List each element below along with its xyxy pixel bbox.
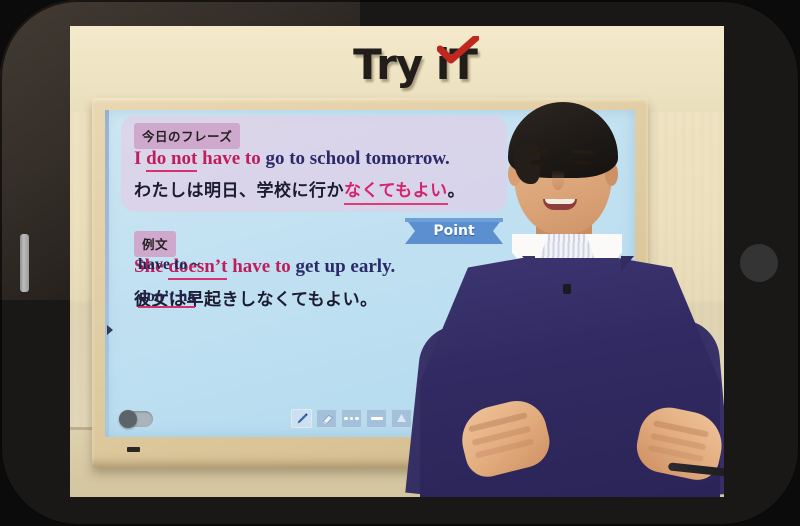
tablet-device-shell: Try iT 今日のフレーズ I do not have to go to sc… bbox=[0, 0, 800, 526]
presenter-eye-right bbox=[574, 160, 590, 165]
today-phrase-en-underlined: do not bbox=[146, 148, 197, 172]
dots-icon[interactable] bbox=[341, 409, 362, 428]
presenter-eye-left bbox=[530, 160, 546, 165]
pen-icon[interactable] bbox=[291, 409, 312, 428]
today-phrase-jp-pre: わたしは明日、学校に行か bbox=[134, 181, 344, 201]
volume-button[interactable] bbox=[20, 234, 29, 292]
today-phrase-tag: 今日のフレーズ bbox=[134, 123, 240, 149]
example-tag: 例文 bbox=[134, 231, 176, 257]
board-toolbar[interactable] bbox=[291, 409, 412, 428]
home-button[interactable] bbox=[740, 244, 778, 282]
dots-group bbox=[344, 417, 359, 421]
pen-glyph bbox=[291, 409, 312, 428]
video-player-stage[interactable]: Try iT 今日のフレーズ I do not have to go to sc… bbox=[70, 26, 724, 497]
board-toggle-switch[interactable] bbox=[119, 411, 153, 427]
triangle-right-icon[interactable] bbox=[107, 325, 113, 335]
eraser-icon[interactable] bbox=[316, 409, 337, 428]
try-it-logo: Try iT bbox=[325, 34, 505, 96]
line-glyph bbox=[366, 409, 387, 428]
example-en-highlight: have to bbox=[227, 256, 295, 277]
whiteboard-brand-label bbox=[127, 447, 140, 452]
board-toggle-knob bbox=[119, 410, 137, 428]
presenter-figure bbox=[400, 88, 724, 497]
point-line-2-underlined: don’t ha bbox=[138, 288, 195, 308]
presenter-teeth bbox=[545, 199, 575, 204]
today-phrase-en-pre: I bbox=[134, 148, 146, 169]
lapel-mic-icon bbox=[563, 284, 571, 294]
red-check-icon bbox=[437, 36, 479, 64]
point-line-1: have to ~ bbox=[138, 256, 200, 274]
presenter-hair bbox=[508, 102, 618, 178]
eraser-glyph bbox=[316, 409, 337, 428]
line-icon[interactable] bbox=[366, 409, 387, 428]
today-phrase-en-highlight: have to bbox=[197, 148, 265, 169]
line-bar bbox=[371, 417, 383, 420]
point-line-2: don’t ha bbox=[138, 288, 195, 306]
presenter-nose bbox=[552, 170, 564, 190]
example-en-rest: get up early. bbox=[296, 256, 396, 277]
dots-glyph bbox=[341, 409, 362, 428]
